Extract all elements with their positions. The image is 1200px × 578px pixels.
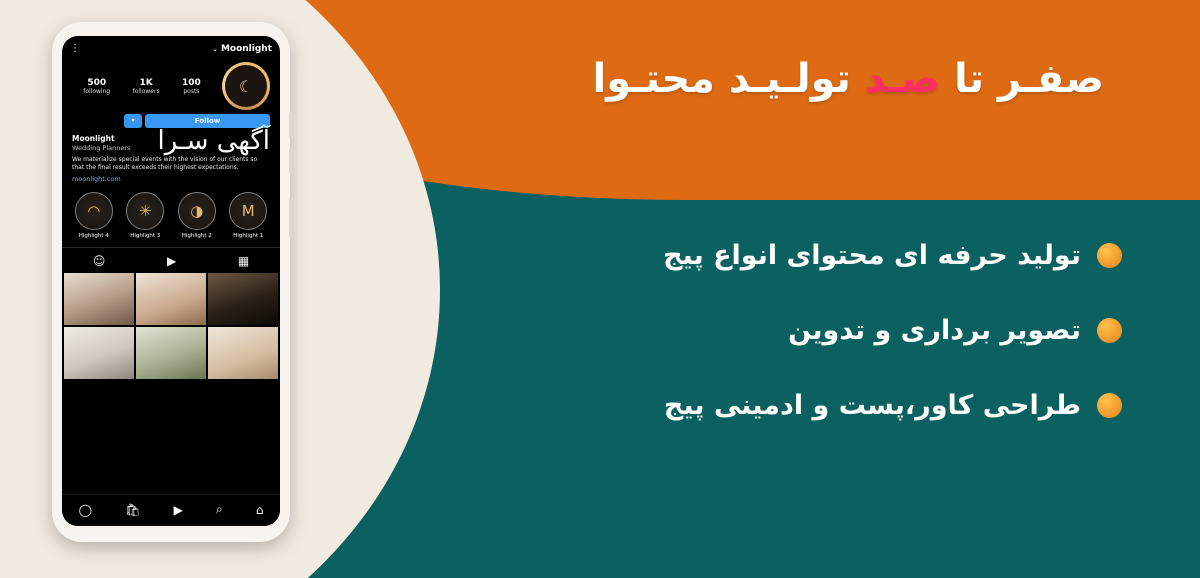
headline-part-2: صـد <box>865 56 940 102</box>
highlight-item[interactable]: ◑ Highlight 2 <box>175 192 219 239</box>
list-item: تصویر برداری و تدوین <box>500 315 1200 346</box>
highlight-cover-icon: ◑ <box>178 192 216 230</box>
bullet-dot-icon <box>1097 243 1122 268</box>
kebab-menu-icon[interactable]: ⋮ <box>70 46 81 52</box>
search-nav-icon[interactable]: ⌕ <box>216 502 223 517</box>
phone-power-button <box>289 198 293 238</box>
chevron-down-icon[interactable]: ⌄ <box>212 45 218 53</box>
reels-nav-icon[interactable]: ▶ <box>174 503 183 517</box>
highlight-item[interactable]: M Highlight 1 <box>226 192 270 239</box>
profile-tabs: ▦ ▶ ☺ <box>62 247 280 273</box>
profile-summary: ☾ 100 posts 1K followers 500 following <box>62 58 280 112</box>
home-nav-icon[interactable]: ⌂ <box>256 503 264 517</box>
list-item: تولید حرفه ای محتوای انواع پیج <box>500 240 1200 271</box>
profile-username-row[interactable]: Moonlight ⌄ <box>212 44 272 54</box>
highlight-label: Highlight 3 <box>123 233 167 239</box>
bio-text: We materialize special events with the v… <box>72 156 270 172</box>
profile-stats: 100 posts 1K followers 500 following <box>72 78 212 95</box>
post-couple-kiss[interactable] <box>64 273 134 325</box>
stat-following-value: 500 <box>83 78 110 88</box>
stat-following[interactable]: 500 following <box>83 78 110 95</box>
phone-screen: Moonlight ⌄ ⋮ ☾ 100 posts 1K followers <box>62 36 280 526</box>
bullet-dot-icon <box>1097 318 1122 343</box>
brand-name: آگهی سـرا <box>158 126 271 156</box>
highlight-item[interactable]: ✳ Highlight 3 <box>123 192 167 239</box>
post-couple-silhouette[interactable] <box>208 273 278 325</box>
page-title: صفـر تا صـد تولـیـد محتـوا <box>593 56 1104 102</box>
post-flatlay[interactable] <box>64 327 134 379</box>
post-rings-flowers[interactable] <box>208 327 278 379</box>
instagram-header-bar: Moonlight ⌄ ⋮ <box>62 36 280 58</box>
headline-part-1: صفـر تا <box>940 56 1104 102</box>
highlight-cover-icon: M <box>229 192 267 230</box>
highlight-label: Highlight 1 <box>226 233 270 239</box>
feature-list: تولید حرفه ای محتوای انواع پیج تصویر برد… <box>500 240 1200 465</box>
follow-dropdown-icon[interactable]: ▾ <box>124 114 142 128</box>
post-grid <box>62 273 280 379</box>
highlight-item[interactable]: ◠ Highlight 4 <box>72 192 116 239</box>
phone-volume-down <box>289 148 293 174</box>
shop-nav-icon[interactable]: 🛍 <box>125 503 140 517</box>
stat-posts[interactable]: 100 posts <box>182 78 201 95</box>
tagged-tab[interactable]: ☺ <box>93 254 106 268</box>
stat-posts-value: 100 <box>182 78 201 88</box>
list-item-label: طراحی کاور،پست و ادمینی پیج <box>664 390 1081 421</box>
highlight-label: Highlight 4 <box>72 233 116 239</box>
stat-following-label: following <box>83 88 110 95</box>
highlight-cover-icon: ◠ <box>75 192 113 230</box>
stat-posts-label: posts <box>182 88 201 95</box>
highlight-label: Highlight 2 <box>175 233 219 239</box>
highlight-cover-icon: ✳ <box>126 192 164 230</box>
headline-part-3: تولـیـد محتـوا <box>593 56 865 102</box>
bullet-dot-icon <box>1097 393 1122 418</box>
post-bride-portrait[interactable] <box>136 273 206 325</box>
stat-followers-value: 1K <box>133 78 160 88</box>
reels-tab[interactable]: ▶ <box>167 254 176 268</box>
bio-link[interactable]: moonlight.com <box>72 175 270 184</box>
list-item-label: تولید حرفه ای محتوای انواع پیج <box>663 240 1081 271</box>
profile-nav-icon[interactable]: ◯ <box>79 503 92 517</box>
phone-mockup: Moonlight ⌄ ⋮ ☾ 100 posts 1K followers <box>52 22 290 542</box>
avatar[interactable]: ☾ <box>222 62 270 110</box>
phone-volume-up <box>289 112 293 138</box>
stat-followers-label: followers <box>133 88 160 95</box>
profile-username: Moonlight <box>221 44 272 54</box>
avatar-glyph: ☾ <box>225 65 267 107</box>
poster-canvas: Moonlight ⌄ ⋮ ☾ 100 posts 1K followers <box>0 0 1200 578</box>
list-item-label: تصویر برداری و تدوین <box>788 315 1081 346</box>
stat-followers[interactable]: 1K followers <box>133 78 160 95</box>
bottom-navigation: ⌂ ⌕ ▶ 🛍 ◯ <box>62 494 280 526</box>
grid-tab[interactable]: ▦ <box>238 254 249 268</box>
story-highlights: M Highlight 1 ◑ Highlight 2 ✳ Highlight … <box>62 184 280 241</box>
list-item: طراحی کاور،پست و ادمینی پیج <box>500 390 1200 421</box>
post-bouquet[interactable] <box>136 327 206 379</box>
